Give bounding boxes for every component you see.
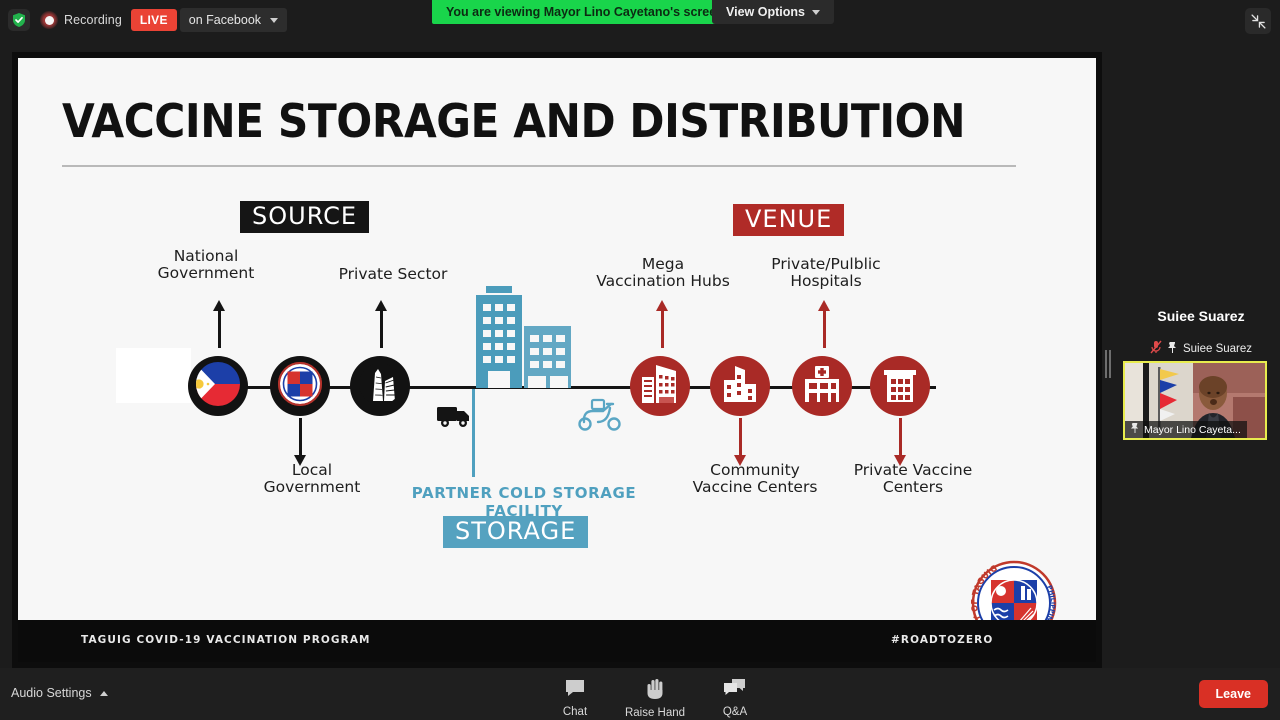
arrow-down-local-government bbox=[294, 418, 306, 466]
recording-label: Recording bbox=[64, 13, 122, 27]
presentation-slide: VACCINE STORAGE AND DISTRIBUTION SOURCE … bbox=[18, 58, 1096, 662]
node-private-sector bbox=[350, 356, 410, 416]
clinic-building-icon bbox=[882, 366, 918, 407]
render-artifact-block bbox=[116, 348, 191, 403]
video-tile-name: Mayor Lino Cayeta... bbox=[1144, 424, 1241, 436]
taguig-seal-icon bbox=[278, 362, 322, 411]
hospital-cross-icon bbox=[802, 366, 842, 407]
node-local-government bbox=[270, 356, 330, 416]
cold-storage-buildings-icon bbox=[466, 286, 578, 393]
office-buildings-icon bbox=[640, 365, 680, 408]
shield-check-icon[interactable] bbox=[8, 9, 30, 31]
arrow-up-national-government bbox=[213, 300, 225, 348]
raised-hand-icon bbox=[645, 678, 665, 704]
page-title: VACCINE STORAGE AND DISTRIBUTION bbox=[62, 98, 965, 144]
top-bar: Recording LIVE on Facebook You are viewi… bbox=[0, 0, 1280, 40]
philippine-flag-icon bbox=[195, 361, 241, 412]
self-participant-name: Suiee Suarez bbox=[1183, 343, 1252, 355]
exit-fullscreen-icon[interactable] bbox=[1245, 8, 1271, 34]
node-label-private-centers: Private Vaccine Centers bbox=[818, 462, 1008, 497]
raise-hand-label: Raise Hand bbox=[625, 707, 685, 719]
section-tag-source: SOURCE bbox=[240, 201, 369, 233]
chat-bubble-icon bbox=[564, 678, 586, 703]
slide-footer-hashtag: #ROADTOZERO bbox=[891, 634, 993, 646]
raise-hand-button[interactable]: Raise Hand bbox=[620, 673, 690, 719]
skyline-icon bbox=[357, 361, 403, 412]
node-label-private-sector: Private Sector bbox=[313, 266, 473, 283]
recording-status-cluster: Recording LIVE on Facebook bbox=[8, 7, 287, 33]
chevron-up-icon bbox=[100, 691, 108, 696]
audio-settings-button[interactable]: Audio Settings bbox=[11, 686, 108, 700]
meeting-toolbar: Audio Settings Chat bbox=[0, 668, 1280, 720]
section-tag-venue: VENUE bbox=[733, 204, 844, 236]
arrow-up-hospitals bbox=[818, 300, 830, 348]
viewing-screen-banner: You are viewing Mayor Lino Cayetano's sc… bbox=[432, 0, 738, 24]
zoom-meeting-window: Recording LIVE on Facebook You are viewi… bbox=[0, 0, 1280, 720]
panel-drag-handle-icon[interactable] bbox=[1104, 348, 1111, 380]
node-community-vaccine-centers bbox=[710, 356, 770, 416]
view-options-button[interactable]: View Options bbox=[712, 0, 834, 24]
chevron-down-icon bbox=[270, 18, 278, 23]
arrow-down-community-centers bbox=[734, 418, 746, 466]
cold-storage-label: PARTNER COLD STORAGE FACILITY bbox=[374, 484, 674, 520]
chevron-down-icon bbox=[812, 10, 820, 15]
active-speaker-name: Suiee Suarez bbox=[1128, 308, 1274, 324]
slide-footer: TAGUIG COVID-19 VACCINATION PROGRAM #ROA… bbox=[18, 620, 1096, 662]
audio-settings-label: Audio Settings bbox=[11, 686, 92, 700]
node-private-public-hospitals bbox=[792, 356, 852, 416]
leave-button[interactable]: Leave bbox=[1199, 680, 1268, 708]
delivery-truck-icon bbox=[436, 403, 476, 434]
mic-muted-icon bbox=[1150, 340, 1162, 357]
live-badge: LIVE bbox=[131, 9, 177, 31]
participants-video-panel bbox=[1110, 52, 1280, 668]
community-building-icon bbox=[721, 366, 759, 407]
cold-storage-connector-line bbox=[472, 389, 475, 477]
node-label-national-government: National Government bbox=[126, 248, 286, 283]
node-mega-vaccination-hubs bbox=[630, 356, 690, 416]
title-divider bbox=[62, 165, 1016, 167]
video-tile-mayor[interactable]: Mayor Lino Cayeta... bbox=[1123, 361, 1267, 440]
streaming-platform-dropdown[interactable]: on Facebook bbox=[180, 8, 287, 32]
chat-label: Chat bbox=[563, 706, 587, 718]
delivery-scooter-icon bbox=[576, 398, 626, 437]
self-participant-row: Suiee Suarez bbox=[1128, 340, 1274, 357]
toolbar-actions: Chat Raise Hand bbox=[540, 673, 770, 719]
pin-icon bbox=[1130, 422, 1140, 437]
qa-button[interactable]: Q&A bbox=[700, 673, 770, 719]
node-national-government bbox=[188, 356, 248, 416]
pin-icon bbox=[1167, 341, 1178, 357]
video-tile-name-plate: Mayor Lino Cayeta... bbox=[1125, 421, 1247, 438]
node-label-local-government: Local Government bbox=[232, 462, 392, 497]
node-private-vaccine-centers bbox=[870, 356, 930, 416]
streaming-platform-label: on Facebook bbox=[189, 13, 261, 27]
qa-label: Q&A bbox=[723, 706, 747, 718]
chat-button[interactable]: Chat bbox=[540, 673, 610, 719]
arrow-down-private-centers bbox=[894, 418, 906, 466]
view-options-label: View Options bbox=[726, 5, 805, 19]
slide-footer-program: TAGUIG COVID-19 VACCINATION PROGRAM bbox=[81, 634, 371, 646]
section-tag-storage: STORAGE bbox=[443, 516, 588, 548]
qa-bubbles-icon bbox=[723, 678, 747, 703]
shared-screen-frame[interactable]: VACCINE STORAGE AND DISTRIBUTION SOURCE … bbox=[12, 52, 1102, 668]
record-dot-icon bbox=[40, 11, 58, 29]
arrow-up-private-sector bbox=[375, 300, 387, 348]
arrow-up-mega-hubs bbox=[656, 300, 668, 348]
node-label-hospitals: Private/Pulblic Hospitals bbox=[726, 256, 926, 291]
